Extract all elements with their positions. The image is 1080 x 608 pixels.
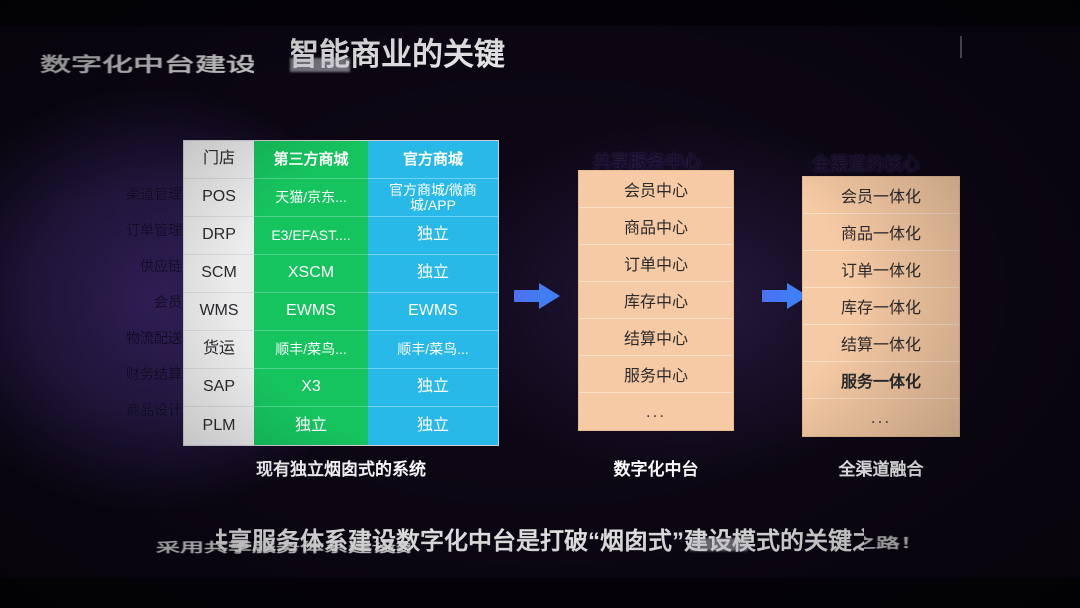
table-cell: E3/EFAST.... (254, 217, 368, 255)
arrow-shaft (762, 290, 789, 302)
table-column-third-party-mall: 第三方商城 天猫/京东... E3/EFAST.... XSCM EWMS 顺丰… (254, 141, 368, 445)
panel-item: 服务一体化 (803, 362, 959, 399)
panel-item: 订单中心 (579, 245, 733, 282)
table-cell: 顺丰/菜鸟... (254, 331, 368, 369)
left-label: 会员 (104, 284, 182, 320)
left-label: 供应链 (104, 248, 182, 284)
table-header-cell: 第三方商城 (254, 141, 368, 179)
panel-item-ellipsis: ... (803, 399, 959, 436)
bottom-note-compression-smear (690, 538, 748, 551)
table-cell: POS (184, 179, 254, 217)
caption-omnichannel-fusion: 全渠道融合 (802, 455, 960, 480)
table-cell: X3 (254, 369, 368, 407)
panel-item: 商品一体化 (803, 214, 959, 251)
table-cell: DRP (184, 217, 254, 255)
omnichannel-integration-panel: 会员一体化 商品一体化 订单一体化 库存一体化 结算一体化 服务一体化 ... (802, 176, 960, 437)
bottom-letterbox-bar (0, 578, 1080, 608)
shared-service-center-panel: 会员中心 商品中心 订单中心 库存中心 结算中心 服务中心 ... (578, 170, 734, 431)
caption-digital-midplatform: 数字化中台 (578, 455, 734, 480)
left-label: 订单管理 (104, 212, 182, 248)
arrow-right-icon (514, 283, 560, 309)
panel-item: 订单一体化 (803, 251, 959, 288)
panel-item: 库存中心 (579, 282, 733, 319)
arrow-head (539, 283, 560, 309)
table-column-system-name: 门店 POS DRP SCM WMS 货运 SAP PLM (184, 141, 254, 445)
text-caret (960, 36, 962, 58)
table-header-cell: 官方商城 (368, 141, 498, 179)
table-cell: 货运 (184, 331, 254, 369)
panel-item: 商品中心 (579, 208, 733, 245)
table-cell: XSCM (254, 255, 368, 293)
table-cell: 顺丰/菜鸟... (368, 331, 498, 369)
table-cell: SCM (184, 255, 254, 293)
left-category-labels: 渠道管理 订单管理 供应链 会员 物流配送 财务结算 商品设计 (104, 176, 182, 428)
table-cell: EWMS (368, 293, 498, 331)
table-cell: SAP (184, 369, 254, 407)
panel-item-ellipsis: ... (579, 393, 733, 430)
title-compression-smear (290, 58, 350, 72)
left-label: 商品设计 (104, 392, 182, 428)
table-header-cell: 门店 (184, 141, 254, 179)
panel-item: 服务中心 (579, 356, 733, 393)
arrow-shaft (514, 290, 541, 302)
table-cell: 天猫/京东... (254, 179, 368, 217)
left-label: 财务结算 (104, 356, 182, 392)
table-cell: 独立 (368, 217, 498, 255)
table-cell: EWMS (254, 293, 368, 331)
slide-title: 数字化中台建设是智能商业的关键 数字化中台建设是智能商业的关键 (40, 30, 740, 86)
table-cell: 独立 (368, 369, 498, 407)
table-cell: WMS (184, 293, 254, 331)
right-panel-header: 全渠道的核心 (812, 150, 920, 176)
top-letterbox-bar (0, 0, 1080, 26)
table-cell: 独立 (368, 407, 498, 445)
left-label: 渠道管理 (104, 176, 182, 212)
left-label: 物流配送 (104, 320, 182, 356)
table-column-official-mall: 官方商城 官方商城/微商 城/APP 独立 独立 EWMS 顺丰/菜鸟... 独… (368, 141, 498, 445)
panel-item: 会员一体化 (803, 177, 959, 214)
legacy-systems-table: 门店 POS DRP SCM WMS 货运 SAP PLM 第三方商城 天猫/京… (183, 140, 499, 446)
caption-legacy-systems: 现有独立烟囱式的系统 (183, 455, 499, 480)
slide-bottom-note: 采用共享服务体系建设数字化中台是打破“烟囱式”建设模式的关键之路！ 采用共享服务… (0, 524, 1080, 576)
table-cell: 官方商城/微商 城/APP (368, 179, 498, 217)
panel-item: 库存一体化 (803, 288, 959, 325)
table-cell: 独立 (368, 255, 498, 293)
panel-item: 结算一体化 (803, 325, 959, 362)
panel-item: 结算中心 (579, 319, 733, 356)
table-cell: PLM (184, 407, 254, 445)
table-cell: 独立 (254, 407, 368, 445)
panel-item: 会员中心 (579, 171, 733, 208)
slide-canvas: 数字化中台建设是智能商业的关键 数字化中台建设是智能商业的关键 渠道管理 订单管… (0, 0, 1080, 608)
